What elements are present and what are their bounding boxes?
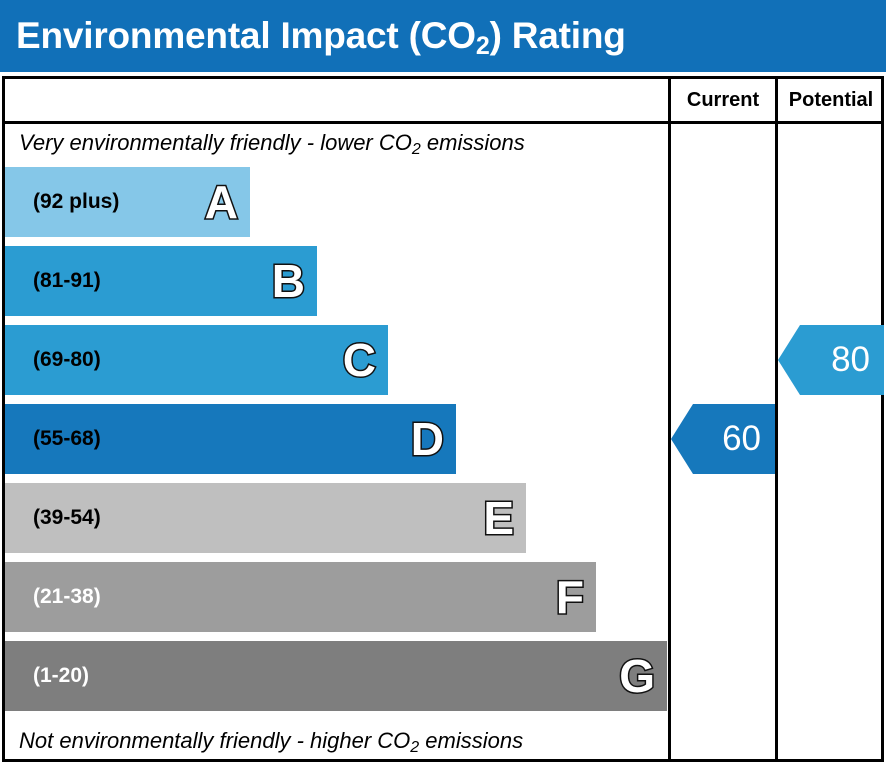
title-banner: Environmental Impact (CO2) Rating <box>0 0 886 72</box>
band-d-letter: D <box>411 416 444 462</box>
band-a: (92 plus) A <box>5 167 250 237</box>
bands-area: Very environmentally friendly - lower CO… <box>5 124 668 762</box>
band-f-letter: F <box>556 574 584 620</box>
band-e-letter: E <box>483 495 514 541</box>
band-a-letter: A <box>205 179 238 225</box>
caption-bottom-subscript: 2 <box>410 739 419 756</box>
band-c-range: (69-80) <box>33 348 101 372</box>
caption-top-subscript: 2 <box>412 141 421 158</box>
caption-top: Very environmentally friendly - lower CO… <box>5 124 668 162</box>
current-rating-value: 60 <box>722 419 761 459</box>
epc-environmental-impact-chart: Environmental Impact (CO2) Rating Curren… <box>0 0 886 764</box>
band-e: (39-54) E <box>5 483 526 553</box>
column-header-current: Current <box>668 79 775 121</box>
current-rating-arrow: 60 <box>671 404 775 474</box>
column-rule-current <box>668 121 671 762</box>
band-c: (69-80) C <box>5 325 388 395</box>
page-title-suffix: ) Rating <box>490 15 626 56</box>
page-title-subscript: 2 <box>476 32 490 60</box>
band-a-range: (92 plus) <box>33 190 119 214</box>
rating-table: Current Potential Very environmentally f… <box>2 76 884 762</box>
caption-bottom-prefix: Not environmentally friendly - higher CO <box>19 728 410 753</box>
page-title-prefix: Environmental Impact (CO <box>16 15 476 56</box>
band-g-range: (1-20) <box>33 664 89 688</box>
band-e-range: (39-54) <box>33 506 101 530</box>
band-f: (21-38) F <box>5 562 596 632</box>
band-b-letter: B <box>272 258 305 304</box>
caption-bottom: Not environmentally friendly - higher CO… <box>5 722 668 760</box>
band-b-range: (81-91) <box>33 269 101 293</box>
band-g-letter: G <box>619 653 655 699</box>
band-c-letter: C <box>343 337 376 383</box>
page-title: Environmental Impact (CO2) Rating <box>16 15 626 57</box>
band-b: (81-91) B <box>5 246 317 316</box>
column-rule-potential <box>775 121 778 762</box>
potential-rating-value: 80 <box>831 340 870 380</box>
band-d-range: (55-68) <box>33 427 101 451</box>
potential-rating-arrow: 80 <box>778 325 884 395</box>
column-header-row: Current Potential <box>5 79 881 121</box>
caption-bottom-suffix: emissions <box>419 728 523 753</box>
column-header-potential: Potential <box>775 79 884 121</box>
band-g: (1-20) G <box>5 641 667 711</box>
band-f-range: (21-38) <box>33 585 101 609</box>
caption-top-prefix: Very environmentally friendly - lower CO <box>19 130 412 155</box>
caption-top-suffix: emissions <box>421 130 525 155</box>
band-d: (55-68) D <box>5 404 456 474</box>
